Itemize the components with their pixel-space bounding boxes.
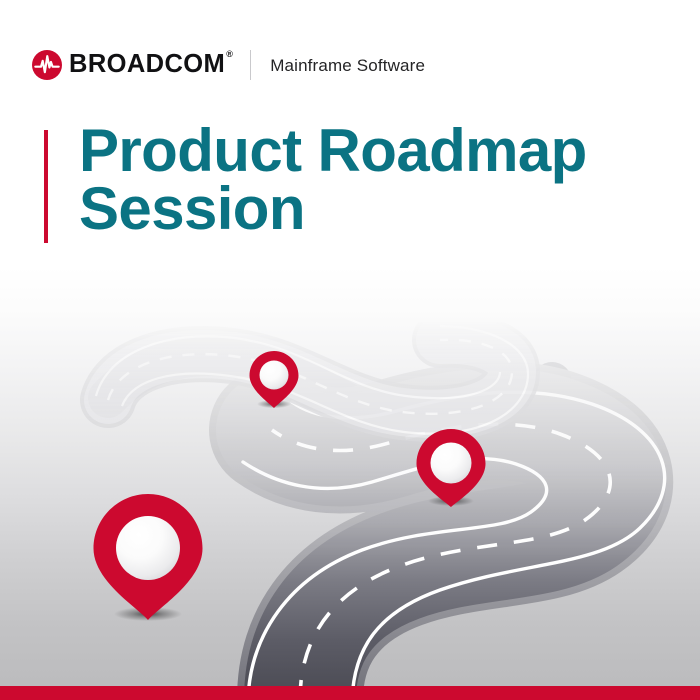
brand-lockup: BROADCOM® Mainframe Software <box>32 48 425 82</box>
roadmap-title-slide: BROADCOM® Mainframe Software Product Roa… <box>0 0 700 700</box>
slide-background <box>0 0 700 700</box>
broadcom-wordmark: BROADCOM® <box>69 52 232 78</box>
footer-accent-bar <box>0 686 700 700</box>
registered-trademark-symbol: ® <box>226 49 233 59</box>
broadcom-pulse-circle-icon <box>32 50 62 80</box>
wordmark-text: BROADCOM <box>69 50 225 78</box>
sub-brand-label: Mainframe Software <box>270 57 425 74</box>
lockup-divider <box>250 50 251 80</box>
title-accent-rule <box>44 130 48 243</box>
page-title: Product Roadmap Session <box>79 122 587 243</box>
title-block: Product Roadmap Session <box>44 130 587 243</box>
